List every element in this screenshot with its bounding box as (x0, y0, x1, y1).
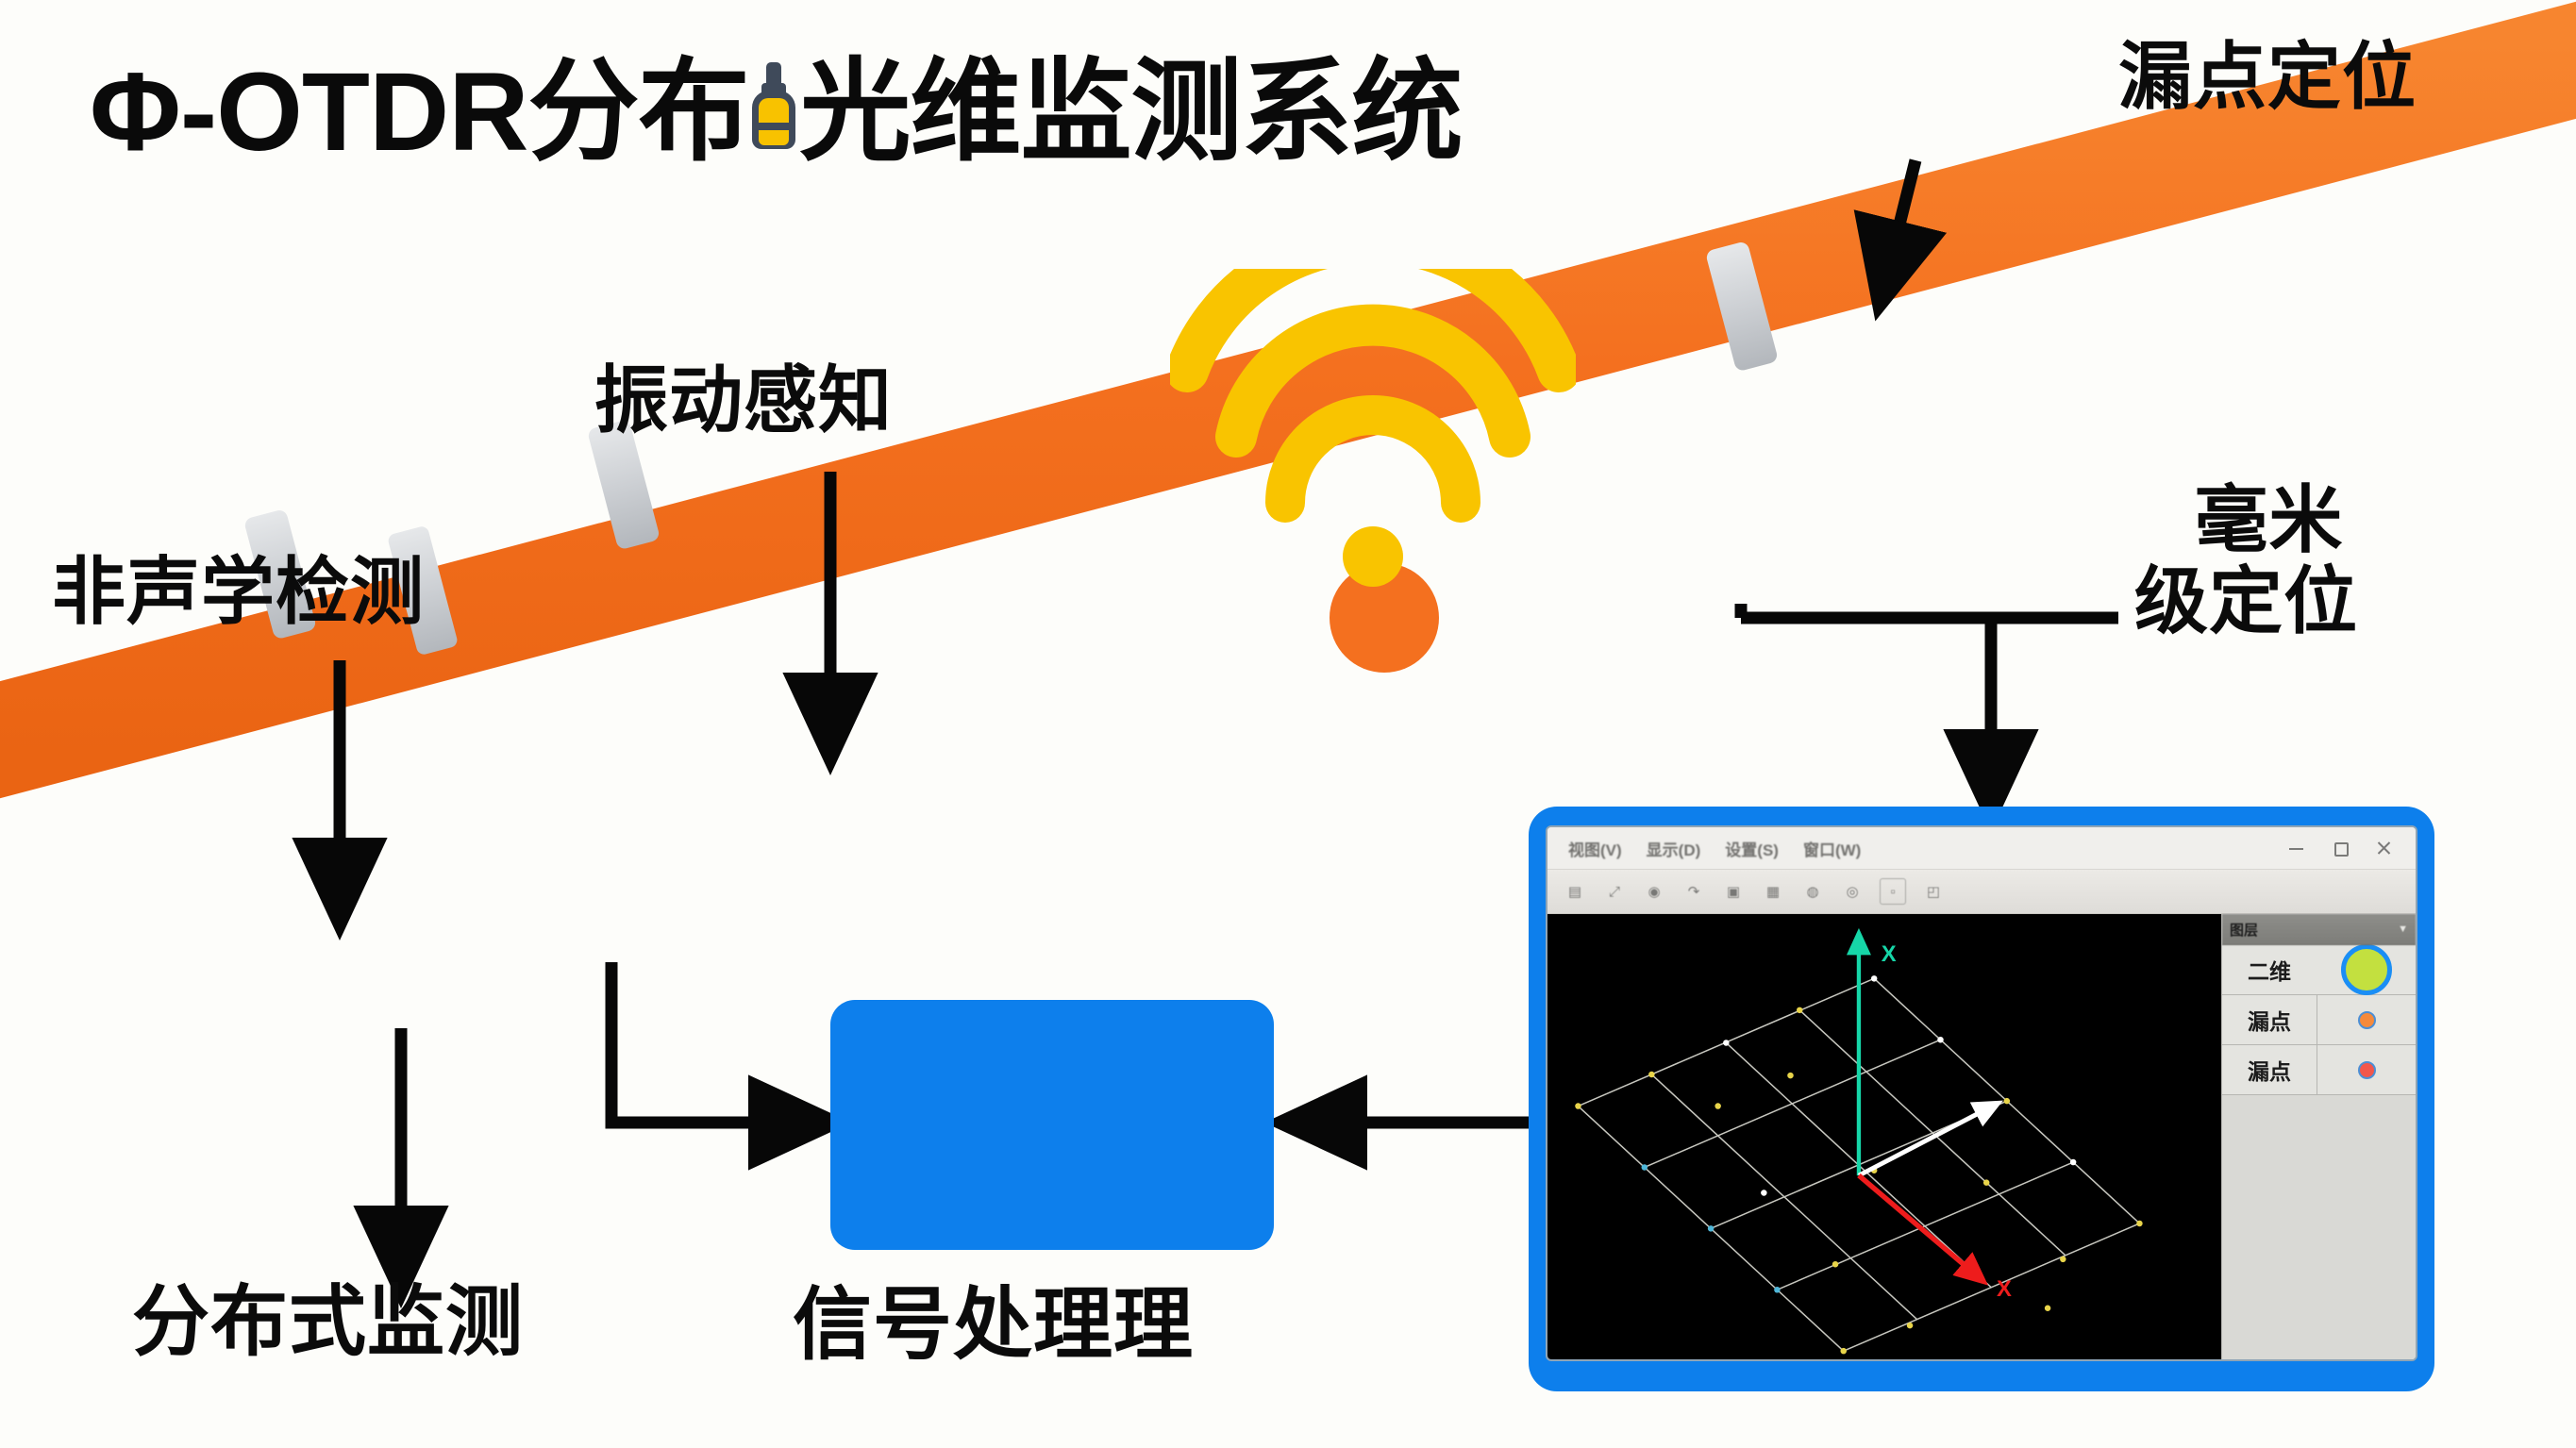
infographic-canvas: Φ-OTDR分布 光维监测系统 非声学检测 振动感知 漏点定位 毫米 级定位 分… (0, 0, 2576, 1448)
layer-name: 漏点 (2222, 1004, 2317, 1036)
refresh-icon[interactable]: ◍ (1800, 879, 1825, 904)
title-part-1: Φ-OTDR分布 (90, 21, 748, 182)
label-signal-processing: 信号处理理 (793, 1285, 1194, 1366)
measure-icon[interactable]: ⤢ (1602, 879, 1627, 904)
grid-icon[interactable]: ▤ (1563, 879, 1587, 904)
window-controls (2287, 839, 2408, 857)
layer-name: 二维 (2222, 954, 2317, 986)
table-row[interactable]: 二维 (2222, 945, 2416, 995)
wifi-signal-icon (1170, 269, 1576, 646)
menu-item-view[interactable]: 视图(V) (1568, 837, 1622, 860)
menu-list: 视图(V) 显示(D) 设置(S) 窗口(W) (1555, 837, 1861, 860)
page-title: Φ-OTDR分布 光维监测系统 (90, 21, 1462, 182)
layer-swatch[interactable] (2317, 995, 2416, 1044)
menu-item-display[interactable]: 显示(D) (1647, 837, 1701, 860)
status-dot-red (2358, 1061, 2376, 1079)
layers-panel-empty-area (2222, 1095, 2416, 1359)
layers-icon[interactable]: ▦ (1761, 879, 1785, 904)
close-icon[interactable] (2374, 839, 2393, 857)
axis-label-vertical: X (1882, 941, 1897, 967)
arrow-leak-location (1887, 160, 1915, 274)
status-dot-green (2341, 944, 2392, 995)
menu-item-window[interactable]: 窗口(W) (1803, 837, 1861, 860)
label-mm-line2: 级定位 (2134, 564, 2358, 640)
window-toolbar: ▤ ⤢ ◉ ↷ ▣ ▦ ◍ ◎ ▫ ◰ (1547, 870, 2416, 914)
monitor-device: 视图(V) 显示(D) 设置(S) 窗口(W) ▤ ⤢ ◉ ↷ ▣ ▦ (1529, 807, 2434, 1391)
status-dot-orange (2358, 1011, 2376, 1029)
render-icon[interactable]: ◰ (1921, 879, 1946, 904)
bottle-sensor-icon (752, 60, 795, 151)
layers-panel-header: 图层 ▼ (2222, 914, 2416, 945)
layers-panel-title: 图层 (2230, 920, 2258, 940)
label-distributed-monitoring: 分布式监测 (132, 1283, 524, 1362)
label-vibration-sensing: 振动感知 (594, 363, 893, 439)
table-row[interactable]: 漏点 (2222, 1045, 2416, 1095)
layer-swatch[interactable] (2317, 1045, 2416, 1094)
axis-label-horizontal: X (1997, 1276, 2012, 1302)
rotate-icon[interactable]: ↷ (1681, 879, 1706, 904)
maximize-icon[interactable] (2331, 839, 2350, 857)
frame-icon[interactable]: ▫ (1880, 878, 1906, 905)
save-icon[interactable]: ▣ (1721, 879, 1746, 904)
label-mm-line1: 毫米 (2195, 478, 2344, 561)
label-millimeter-precision: 毫米 级定位 (2180, 483, 2358, 639)
minimize-icon[interactable] (2287, 839, 2306, 857)
layer-swatch[interactable] (2317, 945, 2416, 994)
layer-name: 漏点 (2222, 1054, 2317, 1086)
label-leak-location: 漏点定位 (2118, 40, 2417, 115)
three-d-plot: X X (1547, 914, 2221, 1359)
three-d-viewport[interactable]: X X (1547, 914, 2221, 1359)
application-window: 视图(V) 显示(D) 设置(S) 窗口(W) ▤ ⤢ ◉ ↷ ▣ ▦ (1547, 827, 2416, 1359)
axis-depth (1859, 1108, 1988, 1175)
label-non-acoustic-detection: 非声学检测 (52, 555, 425, 630)
signal-processor-box (830, 1000, 1274, 1250)
menu-item-settings[interactable]: 设置(S) (1725, 837, 1779, 860)
window-menubar: 视图(V) 显示(D) 设置(S) 窗口(W) (1547, 827, 2416, 870)
window-body: X X 图层 ▼ 二维 (1547, 914, 2416, 1359)
title-part-2: 光维监测系统 (799, 21, 1462, 182)
layers-panel: 图层 ▼ 二维 漏点 (2221, 914, 2416, 1359)
eye-icon[interactable]: ◉ (1642, 879, 1666, 904)
table-row[interactable]: 漏点 (2222, 995, 2416, 1045)
axis-horizontal (1859, 1175, 1974, 1273)
arrow-pipe-to-processor (611, 962, 802, 1123)
chevron-down-icon[interactable]: ▼ (2398, 924, 2408, 935)
pan-icon[interactable]: ◎ (1840, 879, 1865, 904)
